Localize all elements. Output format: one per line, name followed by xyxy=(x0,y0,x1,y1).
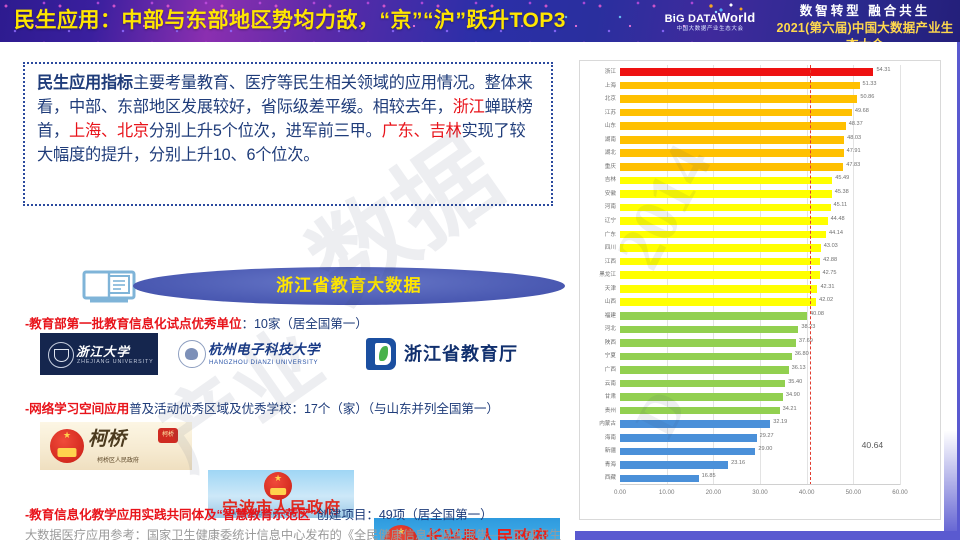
chart-category-label: 四川 xyxy=(605,243,616,251)
chart-category-label: 吉林 xyxy=(605,175,616,183)
chart-bar-row: 广东44.14 xyxy=(620,228,900,242)
chart-category-label: 山东 xyxy=(605,121,616,129)
hdu-name-en: HANGZHOU DIANZI UNIVERSITY xyxy=(209,359,318,366)
chart-category-label: 内蒙古 xyxy=(599,419,616,427)
chart-bar[interactable] xyxy=(620,434,757,442)
chart-category-label: 广西 xyxy=(605,365,616,373)
hdu-name: 杭州电子科技大学 xyxy=(208,338,320,358)
chart-bar[interactable] xyxy=(620,285,817,293)
chart-category-label: 新疆 xyxy=(605,446,616,454)
slide: 民生应用：中部与东部地区势均力敌，“京”“沪”跃升TOP3 BiG DATAWo… xyxy=(0,0,960,540)
chart-category-label: 江西 xyxy=(605,257,616,265)
chart-x-tick-label: 40.00 xyxy=(799,489,814,496)
chart-value-label: 32.19 xyxy=(773,419,787,425)
chart-category-label: 海南 xyxy=(605,433,616,441)
chart-category-label: 重庆 xyxy=(605,162,616,170)
chart-value-label: 45.11 xyxy=(834,202,848,208)
chart-category-label: 北京 xyxy=(605,94,616,102)
chart-bar[interactable] xyxy=(620,407,780,415)
chart-category-label: 湖北 xyxy=(605,148,616,156)
chart-value-label: 36.80 xyxy=(795,351,809,357)
zju-seal-icon xyxy=(48,342,74,368)
summary-red2: 上海、北京 xyxy=(69,122,149,140)
chart-x-tick-label: 30.00 xyxy=(752,489,767,496)
chart-bar-row: 陕西37.69 xyxy=(620,336,900,350)
chart-bar-row: 山东48.37 xyxy=(620,119,900,133)
chart-value-label: 35.40 xyxy=(788,379,802,385)
chart-bar[interactable] xyxy=(620,271,820,279)
logo-bigdata-text: BiG DATA xyxy=(665,13,718,25)
chart-bar[interactable] xyxy=(620,244,821,252)
chart-value-label: 23.16 xyxy=(731,460,745,466)
chart-bar-row: 贵州34.21 xyxy=(620,404,900,418)
chart-bar-row: 上海51.33 xyxy=(620,79,900,93)
zju-name: 浙江大学 xyxy=(76,341,130,360)
summary-bold-lead: 民生应用指标 xyxy=(37,74,133,92)
summary-red1: 浙江 xyxy=(453,98,485,116)
chart-bar[interactable] xyxy=(620,475,699,483)
hdu-seal-icon xyxy=(178,340,206,368)
bullet-3-red: 教育信息化教学应用实践共同体及“智慧教育示范区” xyxy=(29,508,316,522)
chart-x-tick-label: 20.00 xyxy=(706,489,721,496)
chart-category-label: 上海 xyxy=(605,81,616,89)
chart-bar[interactable] xyxy=(620,109,852,117)
chart-x-axis xyxy=(620,484,900,485)
chart-value-label: 49.68 xyxy=(855,108,869,114)
zju-name-en: ZHEJIANG UNIVERSITY xyxy=(77,359,154,365)
summary-seg3: 分别上升5个位次，进军前三甲。 xyxy=(149,122,382,140)
chart-bar-row: 广西36.13 xyxy=(620,363,900,377)
chart-bar[interactable] xyxy=(620,95,857,103)
chart-bar[interactable] xyxy=(620,231,826,239)
chart-bar-row: 西藏16.85 xyxy=(620,471,900,485)
chart-bar[interactable] xyxy=(620,177,832,185)
national-emblem-icon xyxy=(50,429,84,463)
chart-bar[interactable] xyxy=(620,461,728,469)
chart-bar[interactable] xyxy=(620,393,783,401)
chart-bar[interactable] xyxy=(620,68,873,76)
chart-reference-line xyxy=(810,65,811,485)
left-content-column: 民生应用指标主要考量教育、医疗等民生相关领域的应用情况。整体来看，中部、东部地区… xyxy=(0,42,575,540)
chart-bar[interactable] xyxy=(620,258,820,266)
chart-value-label: 36.13 xyxy=(792,365,806,371)
chart-value-label: 16.85 xyxy=(702,473,716,479)
chart-bar[interactable] xyxy=(620,204,831,212)
chart-category-label: 河南 xyxy=(605,202,616,210)
chart-bar-row: 云南35.40 xyxy=(620,377,900,391)
chart-bar-row: 天津42.31 xyxy=(620,282,900,296)
chart-bar-row: 吉林45.49 xyxy=(620,173,900,187)
chart-value-label: 45.49 xyxy=(835,175,849,181)
chart-value-label: 48.03 xyxy=(847,135,861,141)
chart-value-label: 37.69 xyxy=(799,338,813,344)
chart-category-label: 山西 xyxy=(605,297,616,305)
chart-value-label: 42.31 xyxy=(820,284,834,290)
chart-bar[interactable] xyxy=(620,380,785,388)
chart-bar-row: 新疆29.00 xyxy=(620,444,900,458)
bullet-item-3: -教育信息化教学应用实践共同体及“智慧教育示范区”创建项目：49项（居全国第一） xyxy=(25,504,493,523)
open-book-icon xyxy=(82,270,140,304)
chart-bar-row: 青海23.16 xyxy=(620,458,900,472)
chart-bar-row: 内蒙古32.19 xyxy=(620,417,900,431)
chart-x-tick-label: 10.00 xyxy=(659,489,674,496)
event-name: 2021(第六届)中国大数据产业生态大会 xyxy=(775,20,955,42)
chart-category-label: 云南 xyxy=(605,379,616,387)
chart-category-label: 安徽 xyxy=(605,189,616,197)
chart-category-label: 陕西 xyxy=(605,338,616,346)
bigdata-world-logo: BiG DATAWorld 中国大数据产业生态大会 xyxy=(655,3,765,39)
chart-category-label: 河北 xyxy=(605,324,616,332)
chart-bar-row: 黑龙江42.75 xyxy=(620,268,900,282)
chart-bar-row: 河北38.23 xyxy=(620,322,900,336)
chart-bar[interactable] xyxy=(620,448,755,456)
chart-bar-row: 海南29.27 xyxy=(620,431,900,445)
keqiao-chip: 柯桥 xyxy=(158,428,178,443)
bullet-1-rest: ：10家（居全国第一） xyxy=(242,317,368,331)
chart-category-label: 贵州 xyxy=(605,406,616,414)
chart-bar-row: 北京50.86 xyxy=(620,92,900,106)
chart-bar[interactable] xyxy=(620,326,798,334)
chart-bar-row: 湖南48.03 xyxy=(620,133,900,147)
logo-hangzhou-dianzi-university: 杭州电子科技大学 HANGZHOU DIANZI UNIVERSITY xyxy=(178,335,346,373)
chart-gridline xyxy=(900,65,901,485)
keqiao-name: 柯桥 xyxy=(88,424,126,451)
chart-bar-row: 江苏49.68 xyxy=(620,106,900,120)
chart-category-label: 青海 xyxy=(605,460,616,468)
chart-value-label: 44.14 xyxy=(829,230,843,236)
chart-value-label: 42.75 xyxy=(823,270,837,276)
chart-bar-row: 宁夏36.80 xyxy=(620,349,900,363)
chart-category-label: 天津 xyxy=(605,284,616,292)
logo-dots-icon xyxy=(707,2,753,14)
chart-bar-row: 四川43.03 xyxy=(620,241,900,255)
chart-bar[interactable] xyxy=(620,82,860,90)
chart-bar[interactable] xyxy=(620,122,846,130)
chart-x-tick-label: 0.00 xyxy=(614,489,626,496)
chart-value-label: 50.86 xyxy=(860,94,874,100)
chart-plot-frame: 浙江54.31上海51.33北京50.86江苏49.68山东48.37湖南48.… xyxy=(579,60,941,520)
chart-category-label: 西藏 xyxy=(605,473,616,481)
chart-bar[interactable] xyxy=(620,420,770,428)
chart-bars-container: 浙江54.31上海51.33北京50.86江苏49.68山东48.37湖南48.… xyxy=(620,65,900,485)
chart-value-label: 44.48 xyxy=(831,216,845,222)
header-event-info: 数智转型 融合共生 2021(第六届)中国大数据产业生态大会 xyxy=(775,3,955,42)
bullet-3-rest: 创建项目：49项（居全国第一） xyxy=(316,508,492,522)
chart-value-label: 51.33 xyxy=(863,81,877,87)
chart-category-label: 甘肃 xyxy=(605,392,616,400)
chart-bar-row: 山西42.02 xyxy=(620,295,900,309)
book-leaf-icon xyxy=(366,338,396,370)
chart-bar[interactable] xyxy=(620,353,792,361)
chart-bar[interactable] xyxy=(620,298,816,306)
logo-subtitle: 中国大数据产业生态大会 xyxy=(655,25,765,33)
chart-category-label: 辽宁 xyxy=(605,216,616,224)
bottom-edge-band xyxy=(575,531,960,540)
chart-bar-row: 湖北47.91 xyxy=(620,146,900,160)
chart-value-label: 47.83 xyxy=(846,162,860,168)
bullet-2-rest: 普及活动优秀区域及优秀学校：17个（家）（与山东并列全国第一） xyxy=(129,402,499,416)
chart-category-label: 湖南 xyxy=(605,135,616,143)
chart-bar-row: 辽宁44.48 xyxy=(620,214,900,228)
chart-bar[interactable] xyxy=(620,312,807,320)
chart-value-label: 34.90 xyxy=(786,392,800,398)
chart-value-label: 38.23 xyxy=(801,324,815,330)
chart-bar-row: 江西42.88 xyxy=(620,255,900,269)
logo-zhejiang-dept-education: 浙江省教育厅 xyxy=(366,334,546,374)
chart-value-label: 54.31 xyxy=(876,67,890,73)
chart-value-label: 29.00 xyxy=(758,446,772,452)
chart-plot-area: 浙江54.31上海51.33北京50.86江苏49.68山东48.37湖南48.… xyxy=(620,65,900,485)
chart-category-label: 浙江 xyxy=(605,67,616,75)
page-title: 民生应用：中部与东部地区势均力敌，“京”“沪”跃升TOP3 xyxy=(14,5,634,37)
chart-bar-row: 河南45.11 xyxy=(620,200,900,214)
chart-reference-label: 40.64 xyxy=(862,440,884,450)
summary-textbox: 民生应用指标主要考量教育、医疗等民生相关领域的应用情况。整体来看，中部、东部地区… xyxy=(23,62,553,206)
chart-bar-row: 浙江54.31 xyxy=(620,65,900,79)
chart-value-label: 42.02 xyxy=(819,297,833,303)
section-banner: 浙江省教育大数据 xyxy=(133,267,565,305)
bullet-1-red: 教育部第一批教育信息化试点优秀单位 xyxy=(29,317,241,331)
bullet-item-1: -教育部第一批教育信息化试点优秀单位：10家（居全国第一） xyxy=(25,313,368,332)
doe-name: 浙江省教育厅 xyxy=(404,340,518,366)
chart-category-label: 宁夏 xyxy=(605,351,616,359)
chart-value-label: 47.91 xyxy=(847,148,861,154)
chart-category-label: 江苏 xyxy=(605,108,616,116)
chart-value-label: 40.08 xyxy=(810,311,824,317)
chart-bar-row: 安徽45.38 xyxy=(620,187,900,201)
keqiao-sub: 柯桥区人民政府 xyxy=(97,455,139,464)
chart-x-tick-label: 60.00 xyxy=(892,489,907,496)
chart-bar[interactable] xyxy=(620,217,828,225)
chart-value-label: 42.88 xyxy=(823,257,837,263)
chart-category-label: 福建 xyxy=(605,311,616,319)
logo-zhejiang-university: 浙江大学 ZHEJIANG UNIVERSITY xyxy=(40,333,158,375)
banner-keqiao-government: 柯桥 柯桥区人民政府 柯桥 xyxy=(40,422,192,470)
bullet-2-red: 网络学习空间应用 xyxy=(29,402,129,416)
chart-value-label: 34.21 xyxy=(783,406,797,412)
chart-category-label: 黑龙江 xyxy=(599,270,616,278)
source-footnote: 大数据医疗应用参考：国家卫生健康委统计信息中心发布的《全民健康信息化调查报告——… xyxy=(25,527,565,540)
slide-header: 民生应用：中部与东部地区势均力敌，“京”“沪”跃升TOP3 BiG DATAWo… xyxy=(0,0,960,42)
event-slogan: 数智转型 融合共生 xyxy=(775,3,955,20)
chart-value-label: 45.38 xyxy=(835,189,849,195)
chart-x-tick-label: 50.00 xyxy=(846,489,861,496)
university-logo-row: 浙江大学 ZHEJIANG UNIVERSITY 杭州电子科技大学 HANGZH… xyxy=(28,333,568,377)
chart-bar[interactable] xyxy=(620,339,796,347)
chart-value-label: 48.37 xyxy=(849,121,863,127)
chart-bar[interactable] xyxy=(620,366,789,374)
summary-red3: 广东、吉林 xyxy=(382,122,462,140)
chart-category-label: 广东 xyxy=(605,230,616,238)
chart-panel: 浙江54.31上海51.33北京50.86江苏49.68山东48.37湖南48.… xyxy=(575,42,960,540)
government-banner-row: 柯桥 柯桥区人民政府 柯桥 宁波市人民政府 www.ningbo.gov.cn … xyxy=(28,422,573,472)
bullet-item-2: -网络学习空间应用普及活动优秀区域及优秀学校：17个（家）（与山东并列全国第一） xyxy=(25,398,499,417)
section-banner-label: 浙江省教育大数据 xyxy=(133,267,565,305)
chart-value-label: 43.03 xyxy=(824,243,838,249)
chart-bar-row: 甘肃34.90 xyxy=(620,390,900,404)
chart-bar-row: 重庆47.83 xyxy=(620,160,900,174)
chart-value-label: 29.27 xyxy=(760,433,774,439)
chart-x-tick-labels: 0.0010.0020.0030.0040.0050.0060.00 xyxy=(620,489,900,503)
chart-bar-row: 福建40.08 xyxy=(620,309,900,323)
chart-bar[interactable] xyxy=(620,190,832,198)
